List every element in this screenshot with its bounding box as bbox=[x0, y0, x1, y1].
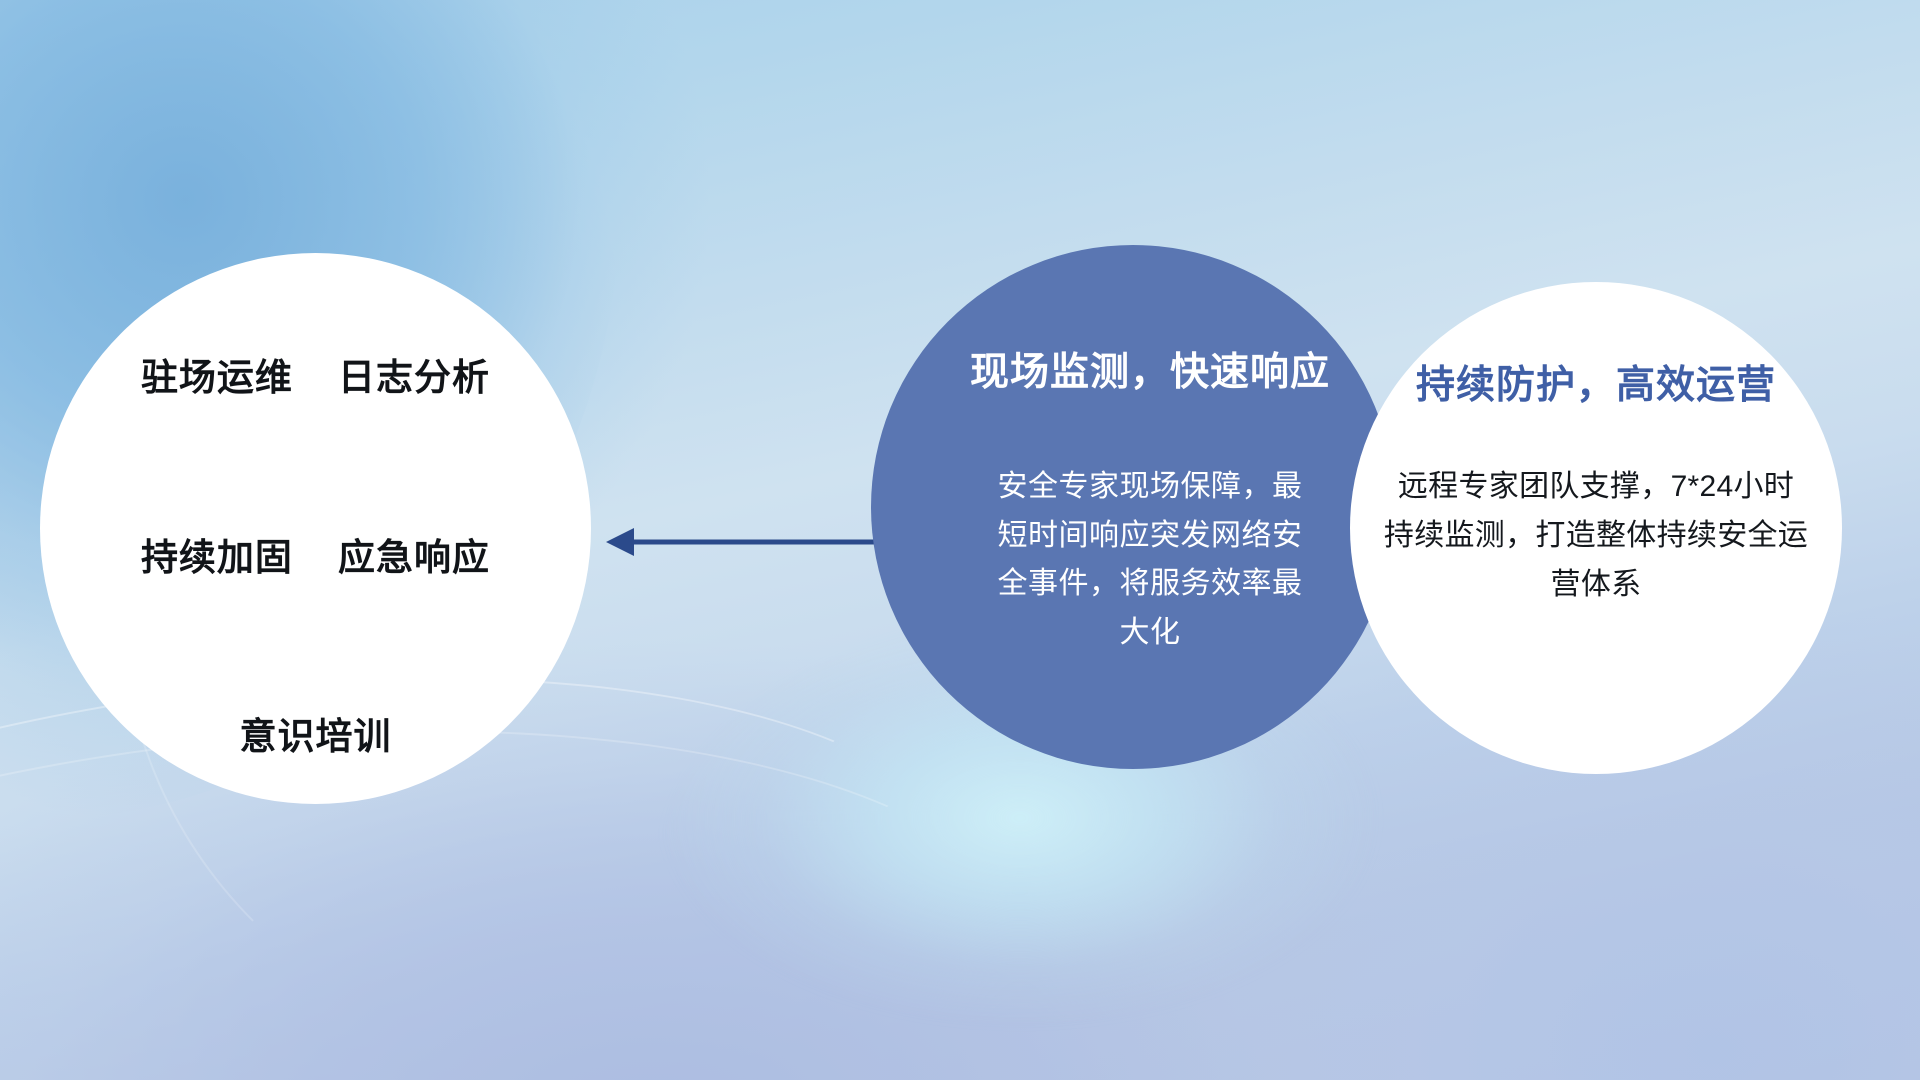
capability-line: 驻场运维 日志分析 bbox=[141, 348, 490, 408]
circle-title: 持续防护，高效运营 bbox=[1416, 354, 1776, 410]
capability-list: 驻场运维 日志分析 持续加固 应急响应 意识培训 bbox=[141, 228, 490, 887]
capability-line: 持续加固 应急响应 bbox=[141, 528, 490, 588]
feature-circle-onsite-monitoring[interactable]: 现场监测，快速响应 安全专家现场保障，最短时间响应突发网络安全事件，将服务效率最… bbox=[871, 245, 1395, 769]
capability-circle-left[interactable]: 驻场运维 日志分析 持续加固 应急响应 意识培训 bbox=[40, 253, 591, 804]
feature-circle-continuous-protection[interactable]: 持续防护，高效运营 远程专家团队支撑，7*24小时持续监测，打造整体持续安全运营… bbox=[1350, 282, 1842, 774]
circle-title: 现场监测，快速响应 bbox=[970, 341, 1330, 397]
slide-canvas: 驻场运维 日志分析 持续加固 应急响应 意识培训 现场监测，快速响应 安全专家现… bbox=[0, 0, 1920, 1080]
circle-body-text: 安全专家现场保障，最短时间响应突发网络安全事件，将服务效率最大化 bbox=[985, 463, 1315, 657]
flow-arrow-icon bbox=[600, 512, 890, 572]
capability-line: 意识培训 bbox=[141, 707, 490, 767]
circle-body-text: 远程专家团队支撑，7*24小时持续监测，打造整体持续安全运营体系 bbox=[1383, 462, 1809, 610]
